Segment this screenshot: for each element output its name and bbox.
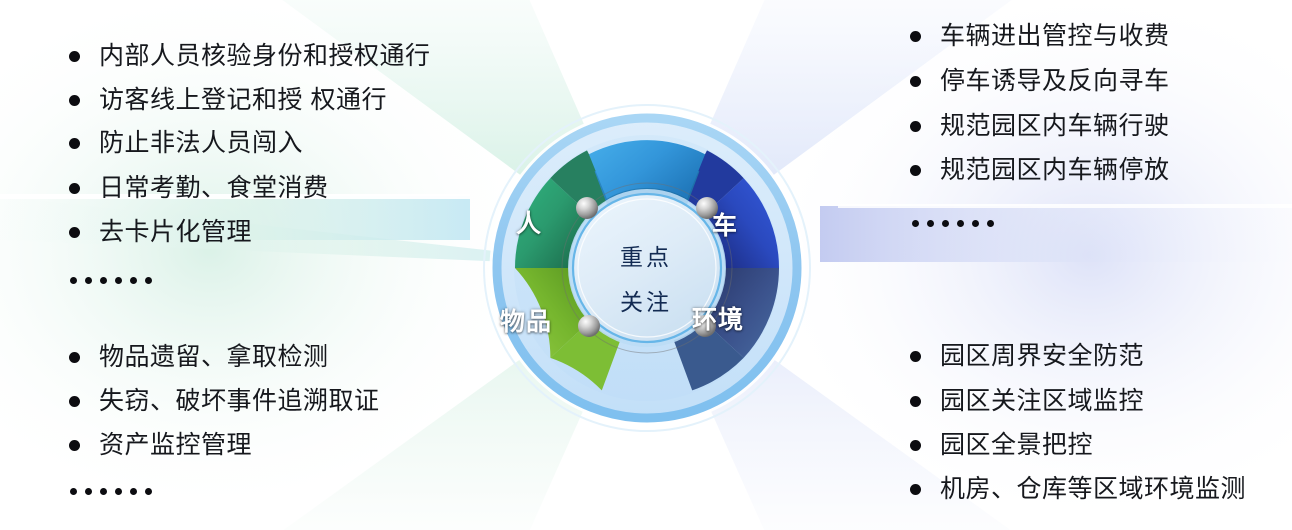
list-item: 园区关注区域监控 — [910, 389, 1144, 414]
list-item-label: 园区全景把控 — [940, 433, 1093, 458]
list-item: 机房、仓库等区域环境监测 — [910, 477, 1246, 502]
list-item-label: 失窃、破坏事件追溯取证 — [99, 389, 380, 414]
list-item: 园区全景把控 — [910, 433, 1093, 458]
list-item-label: 规范园区内车辆停放 — [940, 158, 1170, 183]
list-item: 失窃、破坏事件追溯取证 — [69, 389, 380, 414]
list-item-label: 日常考勤、食堂消费 — [99, 176, 329, 201]
list-item-label: 防止非法人员闯入 — [99, 131, 303, 156]
list-more-ellipsis — [70, 277, 152, 284]
list-item: 停车诱导及反向寻车 — [910, 69, 1170, 94]
node-people — [576, 197, 598, 219]
bullet-icon — [910, 396, 921, 407]
bullet-icon — [69, 138, 80, 149]
focus-wheel — [447, 103, 847, 433]
list-item-label: 内部人员核验身份和授权通行 — [99, 44, 431, 69]
list-item-label: 园区关注区域监控 — [940, 389, 1144, 414]
list-item: 园区周界安全防范 — [910, 344, 1144, 369]
bullet-icon — [69, 51, 80, 62]
bullet-icon — [910, 440, 921, 451]
list-item-label: 去卡片化管理 — [99, 220, 252, 245]
list-item-label: 资产监控管理 — [99, 433, 252, 458]
bullet-icon — [910, 31, 921, 42]
bullet-icon — [910, 351, 921, 362]
bullet-icon — [69, 396, 80, 407]
node-vehicle — [696, 197, 718, 219]
list-item: 规范园区内车辆停放 — [910, 158, 1170, 183]
list-item: 车辆进出管控与收费 — [910, 24, 1170, 49]
list-item: 规范园区内车辆行驶 — [910, 114, 1170, 139]
bullet-icon — [69, 95, 80, 106]
list-item-label: 车辆进出管控与收费 — [940, 24, 1170, 49]
bullet-icon — [910, 76, 921, 87]
node-goods — [578, 315, 600, 337]
list-item: 物品遗留、拿取检测 — [69, 345, 329, 370]
list-item: 访客线上登记和授 权通行 — [69, 88, 387, 113]
list-more-ellipsis — [70, 488, 152, 495]
list-item-label: 停车诱导及反向寻车 — [940, 69, 1170, 94]
list-item: 内部人员核验身份和授权通行 — [69, 44, 431, 69]
diagram-canvas: 重点 关注 人 车 环境 物品 内部人员核验身份和授权通行 访客线上登记和授 权… — [0, 0, 1292, 530]
bullet-icon — [69, 183, 80, 194]
list-item-label: 园区周界安全防范 — [940, 344, 1144, 369]
list-item: 日常考勤、食堂消费 — [69, 176, 329, 201]
bullet-icon — [69, 440, 80, 451]
list-more-ellipsis — [912, 220, 994, 227]
node-environment — [694, 315, 716, 337]
list-item-label: 物品遗留、拿取检测 — [99, 345, 329, 370]
list-item-label: 访客线上登记和授 权通行 — [99, 88, 387, 113]
list-item-label: 规范园区内车辆行驶 — [940, 114, 1170, 139]
list-item-label: 机房、仓库等区域环境监测 — [940, 477, 1246, 502]
bullet-icon — [69, 227, 80, 238]
bullet-icon — [910, 484, 921, 495]
bullet-icon — [69, 352, 80, 363]
bullet-icon — [910, 165, 921, 176]
list-item: 防止非法人员闯入 — [69, 131, 303, 156]
list-item: 去卡片化管理 — [69, 220, 252, 245]
list-item: 资产监控管理 — [69, 433, 252, 458]
bullet-icon — [910, 121, 921, 132]
